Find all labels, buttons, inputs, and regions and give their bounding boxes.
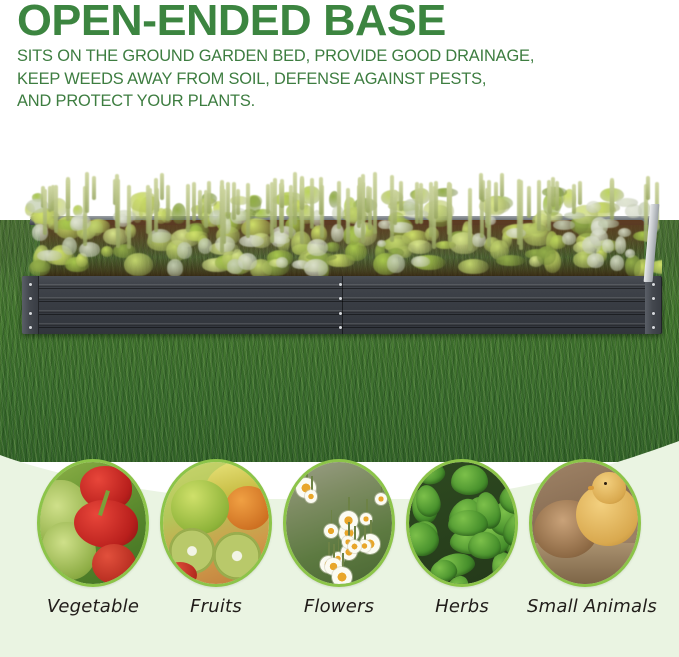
product-photo xyxy=(0,112,679,462)
use-case-item-fruits[interactable]: Fruits xyxy=(158,459,274,617)
subtitle: SITS ON THE GROUND GARDEN BED, PROVIDE G… xyxy=(17,45,534,113)
use-case-label: Fruits xyxy=(158,596,274,617)
use-case-panel: Vegetable Fruits Flowers Herbs S xyxy=(0,437,679,657)
flowers-photo xyxy=(283,459,395,587)
use-case-label: Small Animals xyxy=(527,596,643,617)
subtitle-line-2: KEEP WEEDS AWAY FROM SOIL, DEFENSE AGAIN… xyxy=(17,68,534,91)
product-infographic: OPEN-ENDED BASE SITS ON THE GROUND GARDE… xyxy=(0,0,679,657)
use-case-label: Vegetable xyxy=(35,596,151,617)
subtitle-line-1: SITS ON THE GROUND GARDEN BED, PROVIDE G… xyxy=(17,45,534,68)
use-case-item-herbs[interactable]: Herbs xyxy=(404,459,520,617)
raised-garden-bed xyxy=(22,210,662,335)
use-case-item-small animals[interactable]: Small Animals xyxy=(527,459,643,617)
page-title: OPEN-ENDED BASE xyxy=(17,0,446,44)
fruits-photo xyxy=(160,459,272,587)
bed-front-panel xyxy=(22,276,662,334)
bed-plants xyxy=(22,150,662,280)
use-case-label: Herbs xyxy=(404,596,520,617)
header: OPEN-ENDED BASE SITS ON THE GROUND GARDE… xyxy=(0,0,679,120)
herbs-photo xyxy=(406,459,518,587)
use-case-item-vegetable[interactable]: Vegetable xyxy=(35,459,151,617)
small-animals-photo xyxy=(529,459,641,587)
subtitle-line-3: AND PROTECT YOUR PLANTS. xyxy=(17,90,534,113)
vegetable-photo xyxy=(37,459,149,587)
use-case-item-flowers[interactable]: Flowers xyxy=(281,459,397,617)
use-case-list: Vegetable Fruits Flowers Herbs S xyxy=(0,437,679,657)
bed-panel-seam xyxy=(342,276,343,334)
use-case-label: Flowers xyxy=(281,596,397,617)
